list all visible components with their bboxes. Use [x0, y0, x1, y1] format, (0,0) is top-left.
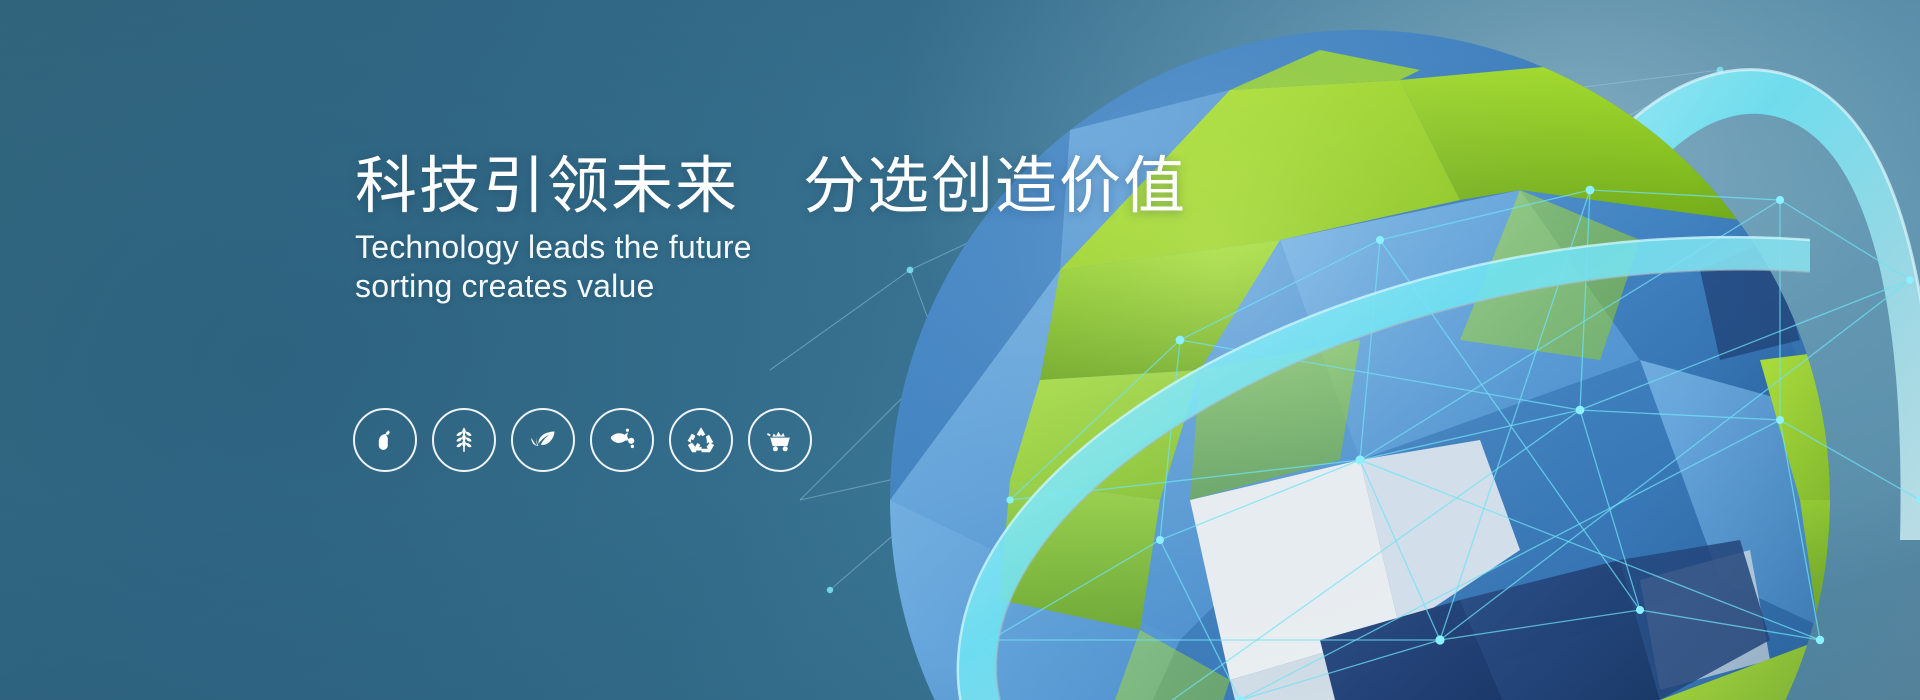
- background-vignette: [0, 0, 1920, 700]
- industry-icon-fish[interactable]: [590, 408, 654, 472]
- industry-icon-ore-cart[interactable]: [748, 408, 812, 472]
- subtitle-line-1: Technology leads the future: [355, 227, 1115, 267]
- banner-text-block: 科技引领未来 分选创造价值 Technology leads the futur…: [355, 152, 1115, 306]
- wheat-ear-icon: [447, 423, 481, 457]
- industry-icon-tea-leaf[interactable]: [511, 408, 575, 472]
- hero-banner: 科技引领未来 分选创造价值 Technology leads the futur…: [0, 0, 1920, 700]
- page-title: 科技引领未来 分选创造价值: [355, 152, 1115, 221]
- industry-icon-recycling[interactable]: [669, 408, 733, 472]
- leaf-icon: [525, 422, 561, 458]
- subtitle-line-2: sorting creates value: [355, 266, 1115, 306]
- fish-icon: [604, 423, 640, 457]
- industry-icon-row: [353, 408, 812, 472]
- industry-icon-wheat-ear[interactable]: [432, 408, 496, 472]
- recycling-icon: [684, 423, 718, 457]
- rice-grain-icon: [368, 423, 402, 457]
- ore-cart-icon: [762, 424, 798, 456]
- industry-icon-rice-grain[interactable]: [353, 408, 417, 472]
